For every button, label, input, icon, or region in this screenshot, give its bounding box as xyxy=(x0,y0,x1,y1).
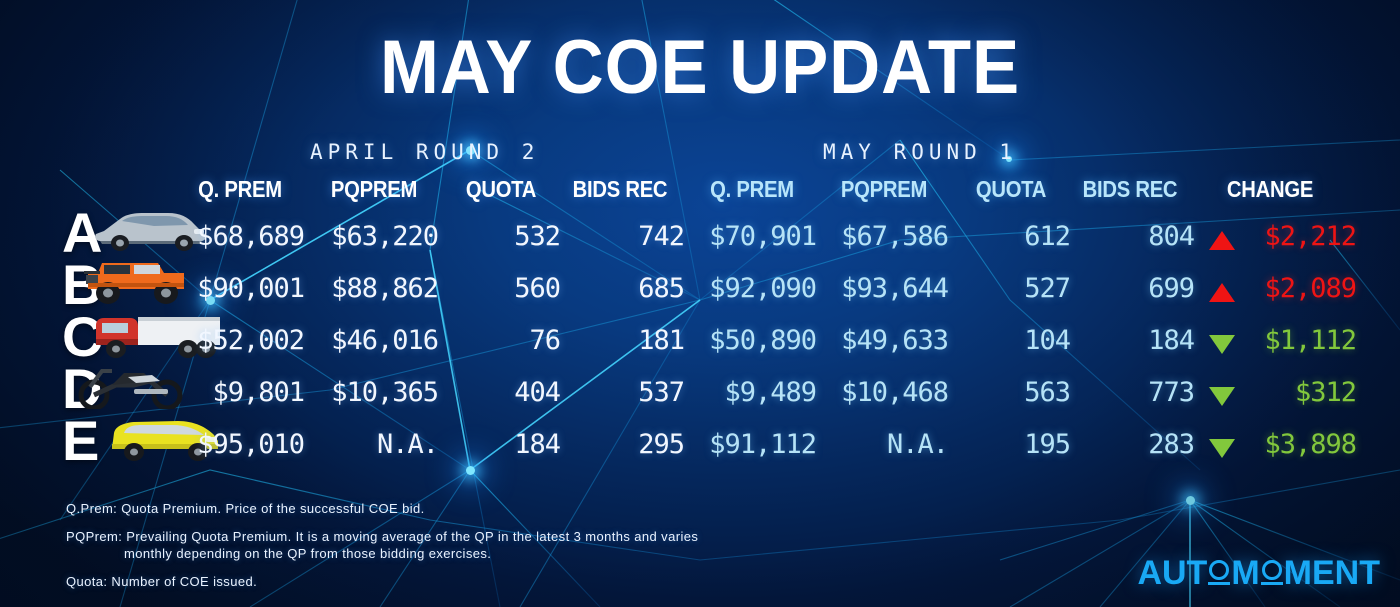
column-header-may-bidsrec: BIDS REC xyxy=(1074,176,1187,203)
column-header-may-pqprem: PQPREM xyxy=(828,176,941,203)
cell-may-pqprem: $10,468 xyxy=(820,377,948,408)
cell-april-q_prem: $90,001 xyxy=(176,273,304,304)
cell-may-quota: 612 xyxy=(952,221,1070,252)
footnote-pqprem-line1: PQPrem: Prevailing Quota Premium. It is … xyxy=(66,529,698,544)
cell-may-quota: 527 xyxy=(952,273,1070,304)
cell-may-pqprem: $67,586 xyxy=(820,221,948,252)
cell-change-value: $312 xyxy=(1246,377,1356,408)
cell-april-bids_rec: 295 xyxy=(556,429,684,460)
column-header-april-qprem: Q. PREM xyxy=(184,176,297,203)
cell-may-quota: 195 xyxy=(952,429,1070,460)
cell-may-bids_rec: 699 xyxy=(1066,273,1194,304)
round-label-april: APRIL ROUND 2 xyxy=(310,140,539,164)
cell-april-bids_rec: 181 xyxy=(556,325,684,356)
column-header-april-bidsrec: BIDS REC xyxy=(564,176,677,203)
glow-node-right xyxy=(1186,496,1195,505)
cell-may-pqprem: N.A. xyxy=(820,429,948,460)
cell-change-value: $2,089 xyxy=(1246,273,1356,304)
cell-may-quota: 563 xyxy=(952,377,1070,408)
cell-may-q_prem: $9,489 xyxy=(688,377,816,408)
cell-may-q_prem: $70,901 xyxy=(688,221,816,252)
cell-change-value: $1,112 xyxy=(1246,325,1356,356)
cell-april-pqprem: $46,016 xyxy=(310,325,438,356)
cell-change-value: $2,212 xyxy=(1246,221,1356,252)
arrow-up-icon xyxy=(1209,231,1235,250)
cell-may-bids_rec: 283 xyxy=(1066,429,1194,460)
infographic-canvas: MAY COE UPDATE APRIL ROUND 2 MAY ROUND 1… xyxy=(0,0,1400,607)
table-body: A $68,689$63,220532742$70,901$67,5866128… xyxy=(0,215,1400,475)
cell-change-value: $3,898 xyxy=(1246,429,1356,460)
column-header-april-quota: QUOTA xyxy=(449,176,553,203)
footnote-pqprem-line2: monthly depending on the QP from those b… xyxy=(66,545,966,562)
cell-april-pqprem: $63,220 xyxy=(310,221,438,252)
cell-may-pqprem: $49,633 xyxy=(820,325,948,356)
logo-text-part3: MENT xyxy=(1284,554,1380,593)
cell-may-q_prem: $50,890 xyxy=(688,325,816,356)
cell-may-bids_rec: 773 xyxy=(1066,377,1194,408)
cell-april-pqprem: $88,862 xyxy=(310,273,438,304)
logo-text-part1: AUT xyxy=(1137,554,1207,593)
cell-april-q_prem: $68,689 xyxy=(176,221,304,252)
cell-april-q_prem: $95,010 xyxy=(176,429,304,460)
cell-april-quota: 184 xyxy=(442,429,560,460)
cell-may-bids_rec: 184 xyxy=(1066,325,1194,356)
logo-o-glyph-1 xyxy=(1208,560,1230,585)
table-header-row: Q. PREM PQPREM QUOTA BIDS REC Q. PREM PQ… xyxy=(0,176,1400,206)
cell-april-quota: 404 xyxy=(442,377,560,408)
table-row: A $68,689$63,220532742$70,901$67,5866128… xyxy=(0,215,1400,267)
cell-april-pqprem: $10,365 xyxy=(310,377,438,408)
column-header-may-qprem: Q. PREM xyxy=(696,176,809,203)
cell-april-q_prem: $52,002 xyxy=(176,325,304,356)
cell-may-q_prem: $92,090 xyxy=(688,273,816,304)
footnote-qprem: Q.Prem: Quota Premium. Price of the succ… xyxy=(66,500,966,517)
automoment-logo: AUT M MENT xyxy=(1137,554,1380,593)
cell-april-quota: 76 xyxy=(442,325,560,356)
cell-may-pqprem: $93,644 xyxy=(820,273,948,304)
arrow-down-icon xyxy=(1209,387,1235,406)
arrow-down-icon xyxy=(1209,439,1235,458)
motorcycle-icon xyxy=(72,363,190,414)
column-header-may-quota: QUOTA xyxy=(959,176,1063,203)
arrow-up-icon xyxy=(1209,283,1235,302)
cell-may-quota: 104 xyxy=(952,325,1070,356)
column-header-change: CHANGE xyxy=(1214,176,1327,203)
column-header-april-pqprem: PQPREM xyxy=(318,176,431,203)
cell-april-pqprem: N.A. xyxy=(310,429,438,460)
cell-april-bids_rec: 685 xyxy=(556,273,684,304)
table-row: E $95,010N.A.184295$91,112N.A.195283$3,8… xyxy=(0,423,1400,475)
cell-april-q_prem: $9,801 xyxy=(176,377,304,408)
page-title: MAY COE UPDATE xyxy=(49,24,1351,111)
cell-may-q_prem: $91,112 xyxy=(688,429,816,460)
logo-text-part2: M xyxy=(1231,554,1259,593)
footnote-quota: Quota: Number of COE issued. xyxy=(66,573,966,590)
cell-april-quota: 532 xyxy=(442,221,560,252)
category-letter: E xyxy=(62,413,99,469)
cell-april-quota: 560 xyxy=(442,273,560,304)
arrow-down-icon xyxy=(1209,335,1235,354)
cell-april-bids_rec: 537 xyxy=(556,377,684,408)
footnote-pqprem: PQPrem: Prevailing Quota Premium. It is … xyxy=(66,528,966,562)
round-label-may: MAY ROUND 1 xyxy=(823,140,1017,164)
logo-o-glyph-2 xyxy=(1261,560,1283,585)
footnotes: Q.Prem: Quota Premium. Price of the succ… xyxy=(66,500,966,601)
cell-may-bids_rec: 804 xyxy=(1066,221,1194,252)
cell-april-bids_rec: 742 xyxy=(556,221,684,252)
table-row: C $52,002$46,01676181$50,890$49,63310418… xyxy=(0,319,1400,371)
